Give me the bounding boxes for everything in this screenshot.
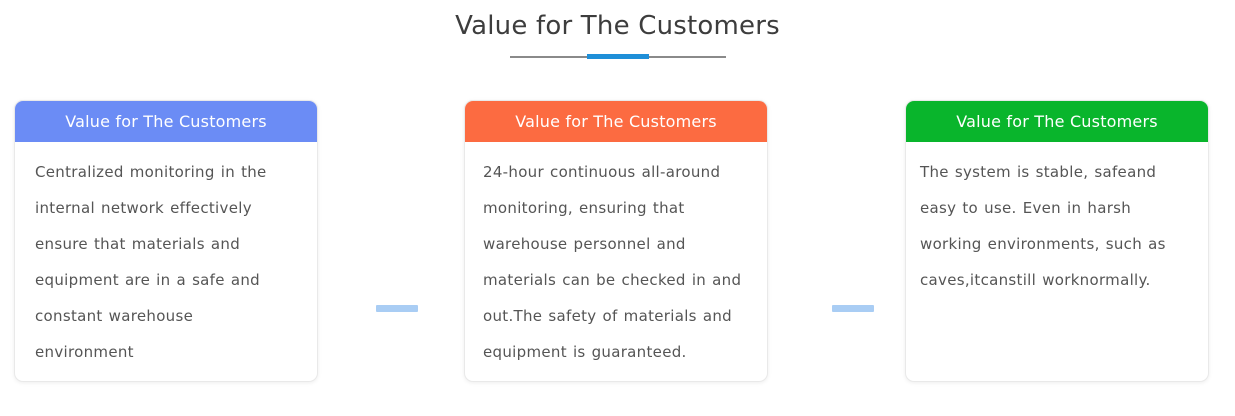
value-card-2-header: Value for The Customers xyxy=(465,101,767,142)
value-card-1[interactable]: Value for The Customers Centralized moni… xyxy=(14,100,318,382)
title-block: Value for The Customers xyxy=(0,8,1235,62)
value-card-1-body: Centralized monitoring in the internal n… xyxy=(15,142,317,382)
connector-1 xyxy=(376,305,418,312)
slide-canvas: Value for The Customers Value for The Cu… xyxy=(0,0,1235,416)
value-card-3-body: The system is stable, safeand easy to us… xyxy=(906,142,1208,312)
value-card-1-header: Value for The Customers xyxy=(15,101,317,142)
value-card-3-header: Value for The Customers xyxy=(906,101,1208,142)
title-underline-accent xyxy=(587,54,649,59)
value-card-2[interactable]: Value for The Customers 24-hour continuo… xyxy=(464,100,768,382)
page-title: Value for The Customers xyxy=(0,8,1235,44)
value-card-3[interactable]: Value for The Customers The system is st… xyxy=(905,100,1209,382)
connector-2 xyxy=(832,305,874,312)
title-underline-decoration xyxy=(510,52,726,62)
value-card-2-body: 24-hour continuous all-around monitoring… xyxy=(465,142,767,382)
cards-row: Value for The Customers Centralized moni… xyxy=(0,100,1235,390)
